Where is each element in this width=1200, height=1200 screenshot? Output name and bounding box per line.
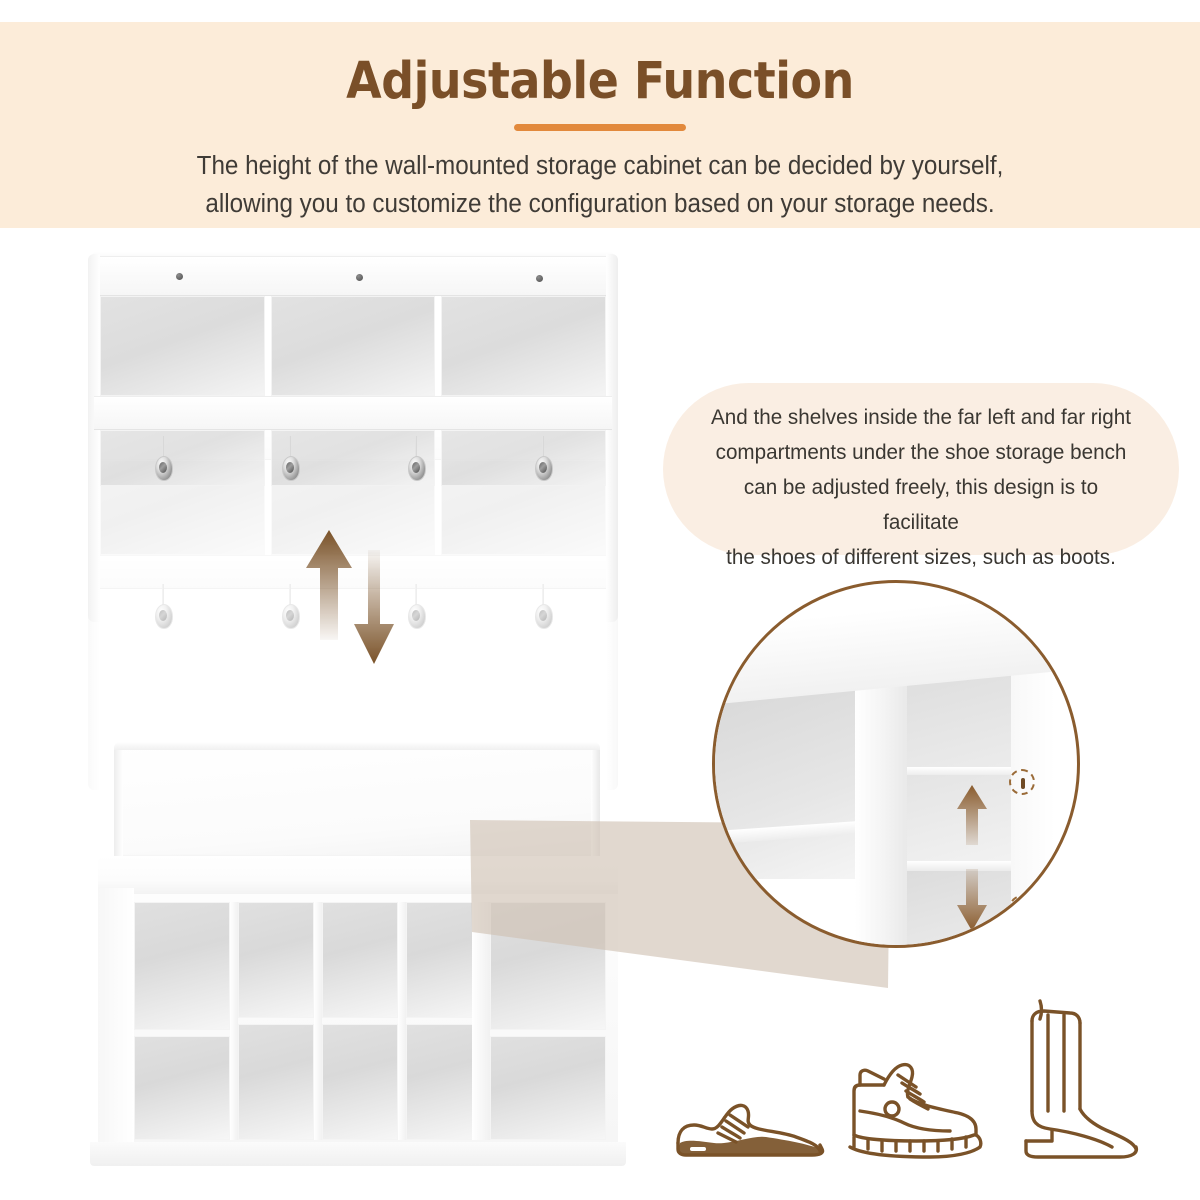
- coat-hook-icon: [152, 584, 174, 630]
- shelf-raise-arrow: [306, 530, 352, 640]
- bench-backrest-left-lip: [114, 750, 123, 856]
- peg-hole-icon: [1009, 895, 1035, 921]
- bench-cubby-column-2: [238, 902, 322, 1140]
- header-band: Adjustable Function The height of the wa…: [0, 22, 1200, 228]
- cabinet-cubby: [271, 296, 436, 396]
- cabinet-cubby: [100, 296, 265, 396]
- height-adjust-arrows: [300, 528, 410, 668]
- mounting-screw-icon: [176, 273, 183, 280]
- callout-line-3: can be adjusted freely, this design is t…: [706, 470, 1136, 540]
- shoe-size-icons: [660, 985, 1160, 1170]
- shelf-lower-arrow: [354, 550, 394, 664]
- zoom-detail-content: [715, 583, 1071, 939]
- coat-hook-icon: [532, 436, 554, 482]
- bench-cubby-column-3: [322, 902, 406, 1140]
- mounting-screw-icon: [356, 274, 363, 281]
- header-subtitle-line-1: The height of the wall-mounted storage c…: [106, 147, 1094, 185]
- bench-cubby-cell: [134, 1036, 230, 1140]
- callout-line-1: And the shelves inside the far left and …: [706, 400, 1136, 435]
- tall-boot-icon: [1010, 991, 1150, 1163]
- bench-cubby-cell: [322, 1024, 398, 1140]
- callout-line-4: the shoes of different sizes, such as bo…: [706, 540, 1136, 575]
- coat-hook-icon: [532, 584, 554, 630]
- callout-line-2: compartments under the shoe storage benc…: [706, 435, 1136, 470]
- zoom-detail-circle: [712, 580, 1080, 948]
- cabinet-cubby: [441, 296, 606, 396]
- bench-cubby-divider: [230, 902, 238, 1140]
- sneaker-air-window: [690, 1147, 706, 1151]
- page-title: Adjustable Function: [60, 56, 1140, 107]
- title-underline-rule: [514, 124, 686, 131]
- callout-bubble: And the shelves inside the far left and …: [663, 383, 1179, 555]
- bench-cubby-cell: [134, 902, 230, 1030]
- bench-cubby-divider: [398, 902, 406, 1140]
- coat-hook-icon: [279, 584, 301, 630]
- coat-hook-icon: [279, 436, 301, 482]
- bench-cubby-cell: [322, 902, 398, 1018]
- cabinet-hook-rail: [94, 396, 612, 430]
- shelf-lower-arrow: [957, 869, 987, 931]
- bench-backrest-top-edge: [114, 742, 600, 750]
- bench-cubby-cell: [238, 902, 314, 1018]
- cabinet-left-side: [88, 254, 100, 622]
- coat-hook-icon: [152, 436, 174, 482]
- bench-left-side-panel: [98, 888, 134, 1144]
- header-subtitle: The height of the wall-mounted storage c…: [106, 147, 1094, 223]
- bench-plinth-base: [90, 1142, 626, 1166]
- coat-hook-icon: [405, 436, 427, 482]
- cabinet-top-rail: [94, 256, 612, 296]
- sneaker-icon: [670, 1081, 830, 1161]
- bench-cubby-divider: [314, 902, 322, 1140]
- mounting-screw-icon: [536, 275, 543, 282]
- bench-cubby-column-1: [134, 902, 238, 1140]
- cabinet-hook-strip: [100, 436, 606, 482]
- infographic-page: Adjustable Function The height of the wa…: [0, 0, 1200, 1200]
- hiking-boot-icon: [840, 1051, 990, 1163]
- cabinet-cubby-row: [100, 296, 606, 396]
- header-subtitle-line-2: allowing you to customize the configurat…: [106, 185, 1094, 223]
- bench-cubby-cell: [238, 1024, 314, 1140]
- callout-text: And the shelves inside the far left and …: [706, 400, 1136, 575]
- zoom-shelf-adjust-arrows: [951, 783, 993, 933]
- peg-hole-icon: [1009, 769, 1035, 795]
- cabinet-right-side: [606, 254, 618, 622]
- zoom-center-divider-post: [855, 679, 907, 947]
- zoom-upper-cell: [907, 675, 1011, 773]
- shelf-raise-arrow: [957, 785, 987, 845]
